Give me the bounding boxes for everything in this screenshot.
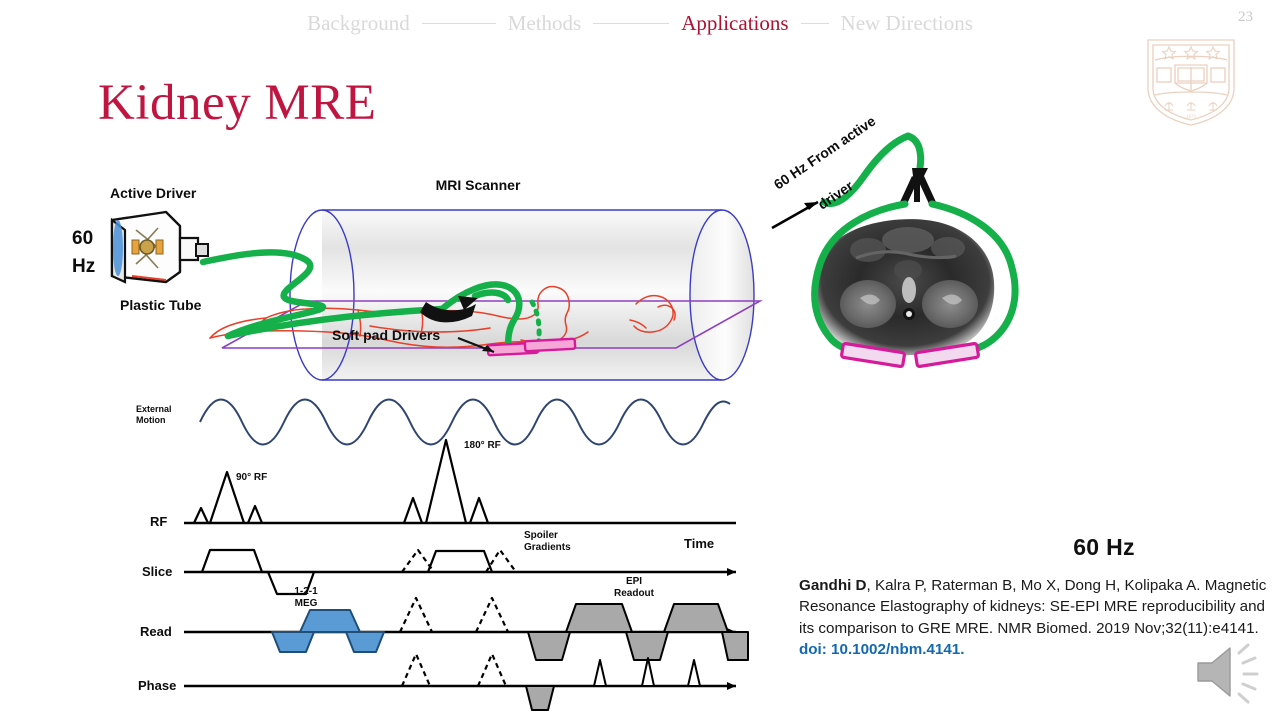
label-soft-pad-drivers: Soft pad Drivers [332, 327, 440, 343]
nav-connector-1 [422, 23, 496, 24]
nav-item-new-directions[interactable]: New Directions [841, 11, 973, 36]
label-frequency-60: 60 [72, 228, 93, 249]
annotation-epi-1: EPI [626, 576, 642, 587]
annotation-spoiler-1: Spoiler [524, 530, 558, 541]
row-label-phase: Phase [138, 678, 176, 693]
annotation-meg-1: 1-2-1 [294, 586, 318, 597]
page-title: Kidney MRE [98, 74, 376, 132]
frequency-heading: 60 Hz [1073, 534, 1135, 561]
annotation-90-rf: 90° RF [236, 472, 267, 483]
nav-item-methods[interactable]: Methods [508, 11, 582, 36]
row-label-external-motion-1: External [136, 404, 172, 414]
svg-text:1870: 1870 [1186, 115, 1197, 120]
label-mri-scanner: MRI Scanner [436, 177, 521, 193]
label-frequency-hz: Hz [72, 256, 95, 277]
annotation-meg-2: MEG [295, 598, 318, 609]
row-label-slice: Slice [142, 564, 172, 579]
axial-mri-figure: 60 Hz From active driver [760, 98, 1050, 398]
nav-item-background[interactable]: Background [307, 11, 410, 36]
citation-authors-bold: Gandhi D [799, 577, 867, 594]
nav-item-applications[interactable]: Applications [681, 11, 788, 36]
pulse-sequence-figure: External Motion RF 90° RF 180° RF Slice [128, 388, 748, 710]
citation-rest: , Kalra P, Raterman B, Mo X, Dong H, Kol… [799, 577, 1266, 637]
slide-root: Background Methods Applications New Dire… [0, 0, 1280, 720]
annotation-180-rf: 180° RF [464, 440, 501, 451]
university-crest-logo: 1870 [1142, 36, 1240, 128]
nav-connector-3 [801, 23, 829, 24]
label-plastic-tube: Plastic Tube [120, 297, 202, 313]
axis-label-time: Time [684, 536, 714, 551]
annotation-epi-2: Readout [614, 588, 655, 599]
speaker-audio-icon[interactable] [1188, 636, 1266, 708]
nav-connector-2 [593, 23, 669, 24]
label-active-driver: Active Driver [110, 185, 197, 201]
row-label-external-motion-2: Motion [136, 415, 166, 425]
section-nav: Background Methods Applications New Dire… [0, 8, 1280, 38]
row-label-read: Read [140, 624, 172, 639]
annotation-spoiler-2: Gradients [524, 542, 571, 553]
mre-setup-figure: Active Driver 60 Hz Plastic Tube MRI Sca… [70, 168, 760, 398]
slide-number: 23 [1238, 9, 1253, 26]
row-label-rf: RF [150, 514, 167, 529]
